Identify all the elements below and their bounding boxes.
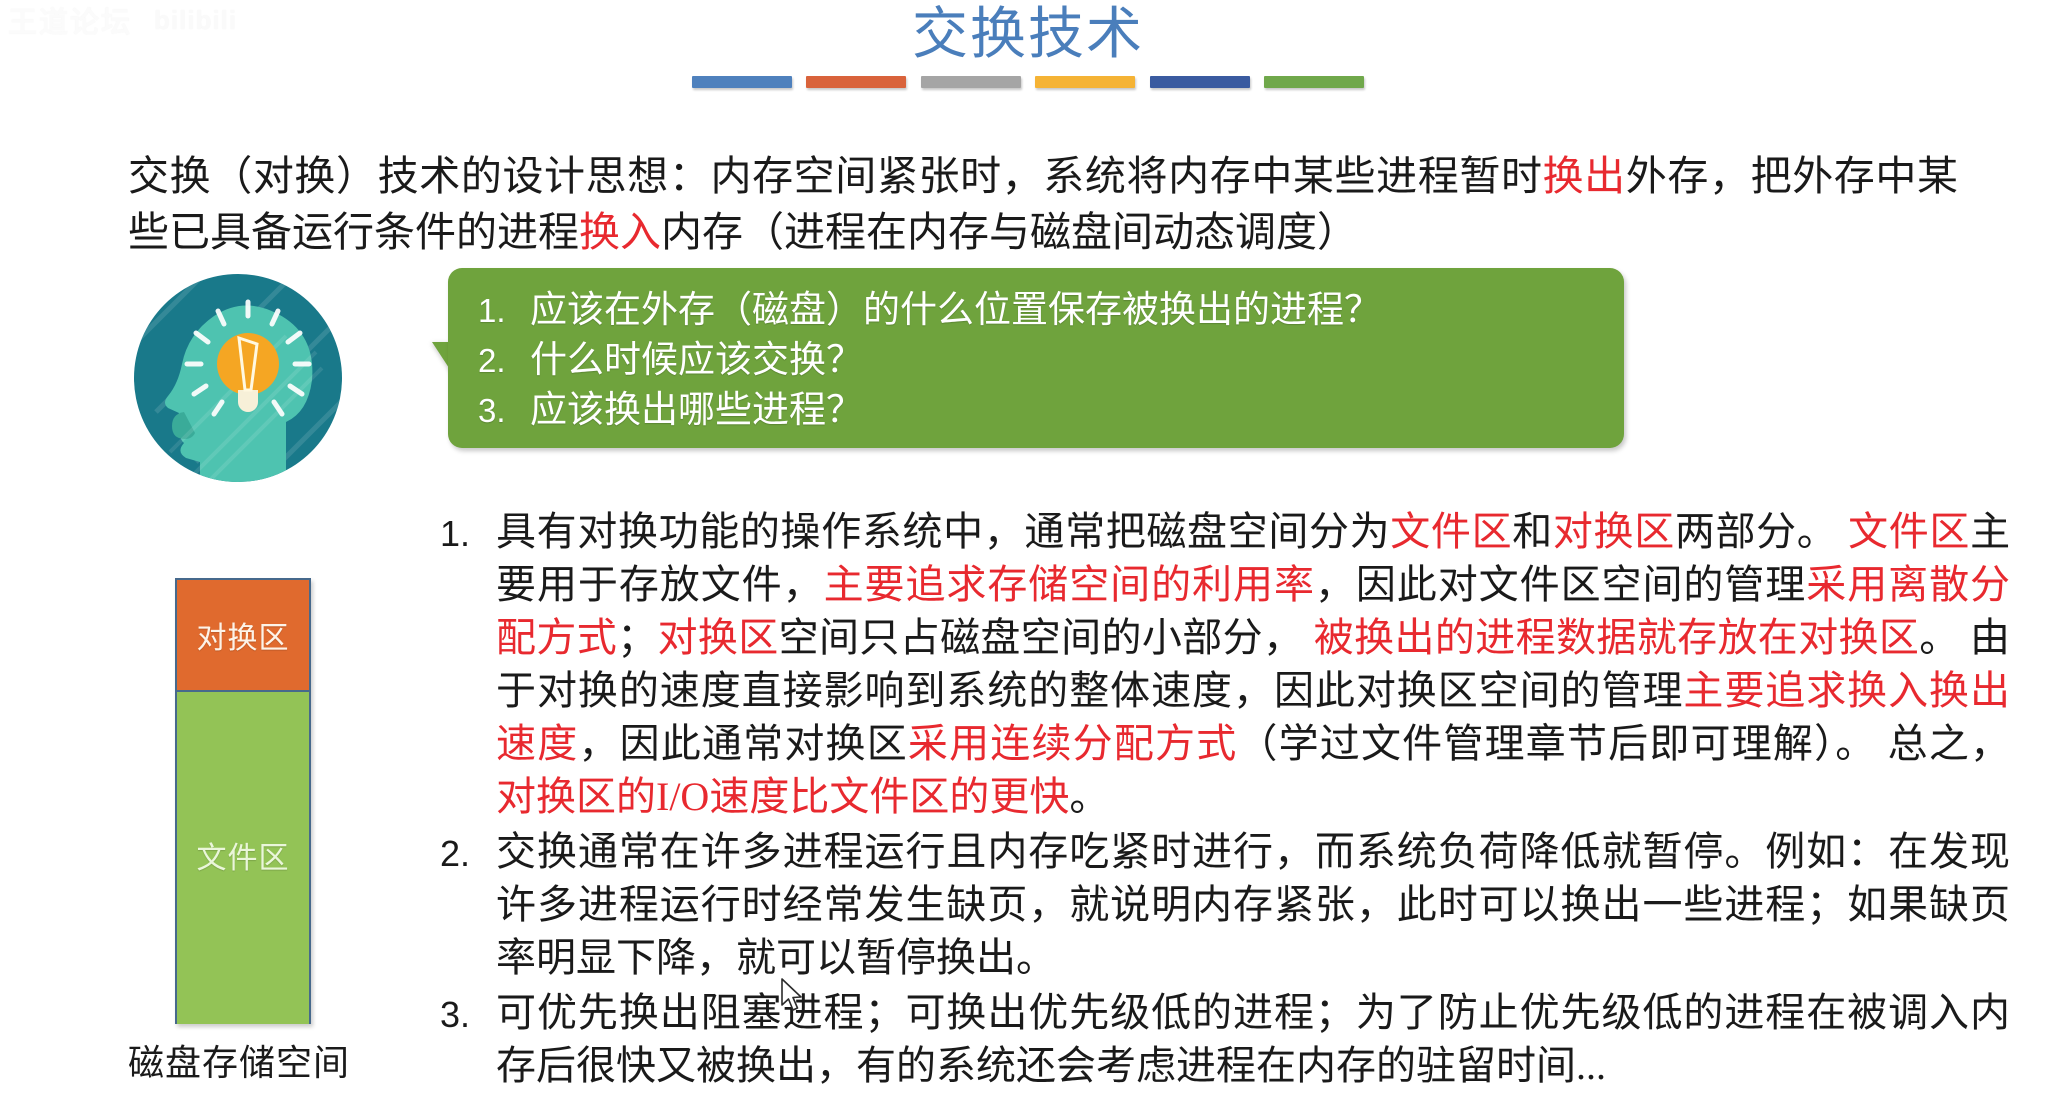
question-item-3: 3. 应该换出哪些进程？ [478,386,1588,436]
question-number: 1. [478,286,530,336]
highlighted-text: 主要追求存储空间的利用率 [824,562,1315,607]
highlighted-text: 对换区 [657,615,778,660]
plain-text: （学过文件管理章节后即可理解）。 总之， [1237,721,2010,766]
question-text: 什么时候应该交换？ [530,336,863,386]
accent-bar-gray [921,76,1021,88]
content-item-body: 交换通常在许多进程运行且内存吃紧时进行，而系统负荷降低就暂停。例如：在发现许多进… [496,825,2010,984]
disk-swap-area-block: 对换区 [177,580,309,692]
accent-bar-blue [692,76,792,88]
question-text: 应该在外存（磁盘）的什么位置保存被换出的进程？ [530,286,1381,336]
highlighted-text: 采用连续分配方式 [908,721,1238,766]
question-text: 应该换出哪些进程？ [530,386,863,436]
intro-text-part3: 内存（进程在内存与磁盘间动态调度） [661,209,1358,255]
question-number: 3. [478,386,530,436]
question-item-2: 2. 什么时候应该交换？ [478,336,1588,386]
thinking-head-icon [126,272,350,484]
plain-text: 和 [1512,509,1553,554]
highlighted-text: 文件区 [1390,509,1512,554]
disk-storage-diagram: 对换区 文件区 [175,578,311,1024]
plain-text: ，因此对文件区空间的管理 [1315,562,1806,607]
content-item-number: 1. [440,505,496,560]
disk-file-area-block: 文件区 [177,692,309,1024]
accent-bar-green [1264,76,1364,88]
question-number: 2. [478,336,530,386]
content-list: 1. 具有对换功能的操作系统中，通常把磁盘空间分为文件区和对换区两部分。 文件区… [440,505,2010,1094]
highlighted-text: 对换区 [1553,509,1675,554]
content-item-body: 具有对换功能的操作系统中，通常把磁盘空间分为文件区和对换区两部分。 文件区主要用… [496,505,2010,823]
content-item-1: 1. 具有对换功能的操作系统中，通常把磁盘空间分为文件区和对换区两部分。 文件区… [440,505,2010,823]
content-item-number: 2. [440,825,496,880]
disk-diagram-caption: 磁盘存储空间 [128,1040,408,1086]
question-list: 1. 应该在外存（磁盘）的什么位置保存被换出的进程？ 2. 什么时候应该交换？ … [478,286,1588,436]
accent-bar-navy [1150,76,1250,88]
intro-highlight-swap-in: 换入 [579,209,661,255]
plain-text: 空间只占磁盘空间的小部分， [779,615,1304,660]
page-title: 交换技术 [0,4,2056,66]
plain-text: 交换通常在许多进程运行且内存吃紧时进行，而系统负荷降低就暂停。例如：在发现许多进… [496,829,2010,980]
plain-text: ，因此通常对换区 [578,721,908,766]
plain-text: 具有对换功能的操作系统中，通常把磁盘空间分为 [496,509,1390,554]
content-item-body: 可优先换出阻塞进程；可换出优先级低的进程；为了防止优先级低的进程在被调入内存后很… [496,986,2010,1092]
disk-swap-area-label: 对换区 [197,613,290,657]
plain-text: 可优先换出阻塞进程；可换出优先级低的进程；为了防止优先级低的进程在被调入内存后很… [496,990,2010,1088]
question-item-1: 1. 应该在外存（磁盘）的什么位置保存被换出的进程？ [478,286,1588,336]
highlighted-text: 对换区的I/O速度比文件区的更快 [496,774,1069,819]
title-block: 交换技术 [0,0,2056,88]
content-item-3: 3. 可优先换出阻塞进程；可换出优先级低的进程；为了防止优先级低的进程在被调入内… [440,986,2010,1092]
highlighted-text: 被换出的进程数据就存放在对换区 [1303,615,1919,660]
content-item-2: 2. 交换通常在许多进程运行且内存吃紧时进行，而系统负荷降低就暂停。例如：在发现… [440,825,2010,984]
content-item-number: 3. [440,986,496,1041]
accent-bar-yellow [1035,76,1135,88]
intro-paragraph: 交换（对换）技术的设计思想：内存空间紧张时，系统将内存中某些进程暂时换出外存，把… [128,148,1958,260]
accent-bar-group [692,76,1364,88]
plain-text: 两部分。 [1675,509,1838,554]
highlighted-text: 文件区 [1837,509,1970,554]
accent-bar-orange [806,76,906,88]
plain-text: ； [617,615,657,660]
intro-highlight-swap-out: 换出 [1543,153,1626,199]
intro-text-part1: 交换（对换）技术的设计思想：内存空间紧张时，系统将内存中某些进程暂时 [128,153,1543,199]
plain-text: 。 [1069,774,1109,819]
question-callout: 1. 应该在外存（磁盘）的什么位置保存被换出的进程？ 2. 什么时候应该交换？ … [432,268,1624,448]
disk-file-area-label: 文件区 [197,833,290,877]
